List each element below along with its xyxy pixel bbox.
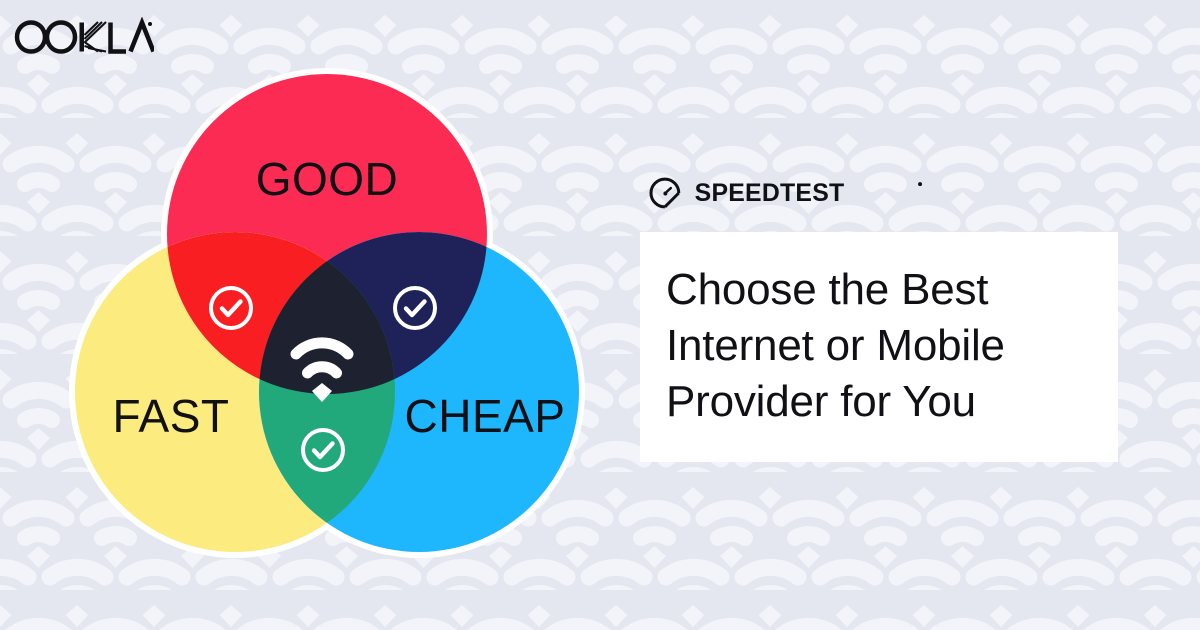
speedtest-logo: SPEEDTEST bbox=[649, 176, 927, 210]
speedtest-trademark-icon bbox=[918, 182, 922, 186]
headline-card: Choose the Best Internet or Mobile Provi… bbox=[640, 232, 1118, 462]
venn-label-cheap: CHEAP bbox=[405, 390, 566, 442]
venn-label-fast: FAST bbox=[112, 390, 229, 442]
venn-label-good: GOOD bbox=[256, 153, 399, 205]
headline-line-1: Choose the Best bbox=[666, 262, 1092, 318]
promo-graphic: GOOD FAST CHEAP bbox=[0, 0, 1200, 630]
speedtest-wordmark: SPEEDTEST bbox=[695, 180, 845, 207]
right-column: SPEEDTEST Choose the Best Internet or Mo… bbox=[640, 176, 1120, 462]
ookla-trademark-icon bbox=[148, 22, 152, 26]
headline-line-3: Provider for You bbox=[666, 374, 1092, 430]
speedometer-icon bbox=[651, 179, 679, 207]
ookla-logo bbox=[14, 17, 154, 57]
page-title: Choose the Best Internet or Mobile Provi… bbox=[640, 262, 1118, 430]
headline-line-2: Internet or Mobile bbox=[666, 318, 1092, 374]
venn-diagram: GOOD FAST CHEAP bbox=[55, 62, 600, 582]
